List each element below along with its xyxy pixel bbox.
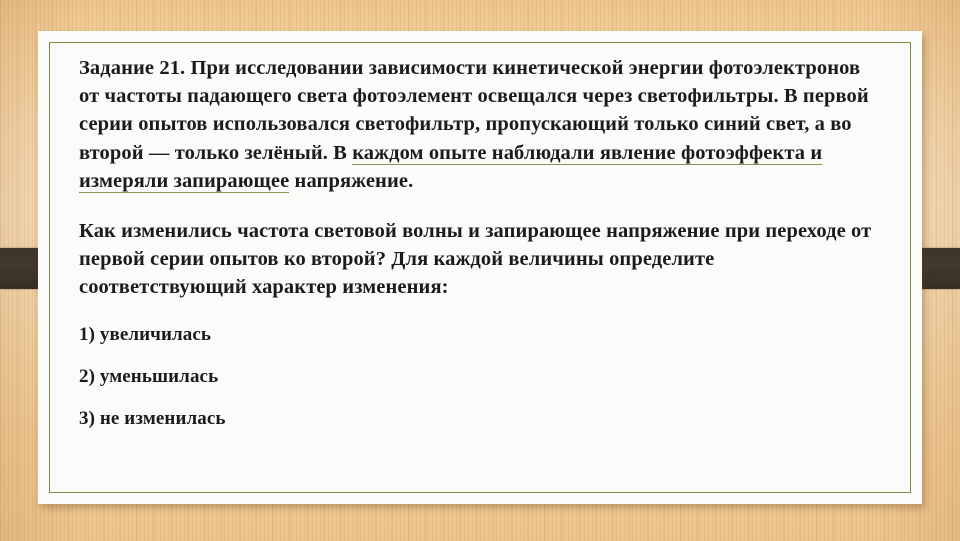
answer-option-1: 1) увеличилась (79, 322, 884, 348)
answer-option-2: 2) уменьшилась (79, 364, 884, 390)
answer-option-3: 3) не изменилась (79, 406, 884, 432)
presentation-slide: Задание 21. При исследовании зависимости… (0, 0, 960, 541)
task-statement-paragraph: Задание 21. При исследовании зависимости… (79, 54, 884, 195)
question-paragraph: Как изменились частота световой волны и … (79, 217, 884, 302)
slide-content: Задание 21. При исследовании зависимости… (79, 54, 884, 484)
content-card: Задание 21. При исследовании зависимости… (38, 31, 922, 504)
task-statement-part-3: напряжение. (289, 170, 413, 192)
